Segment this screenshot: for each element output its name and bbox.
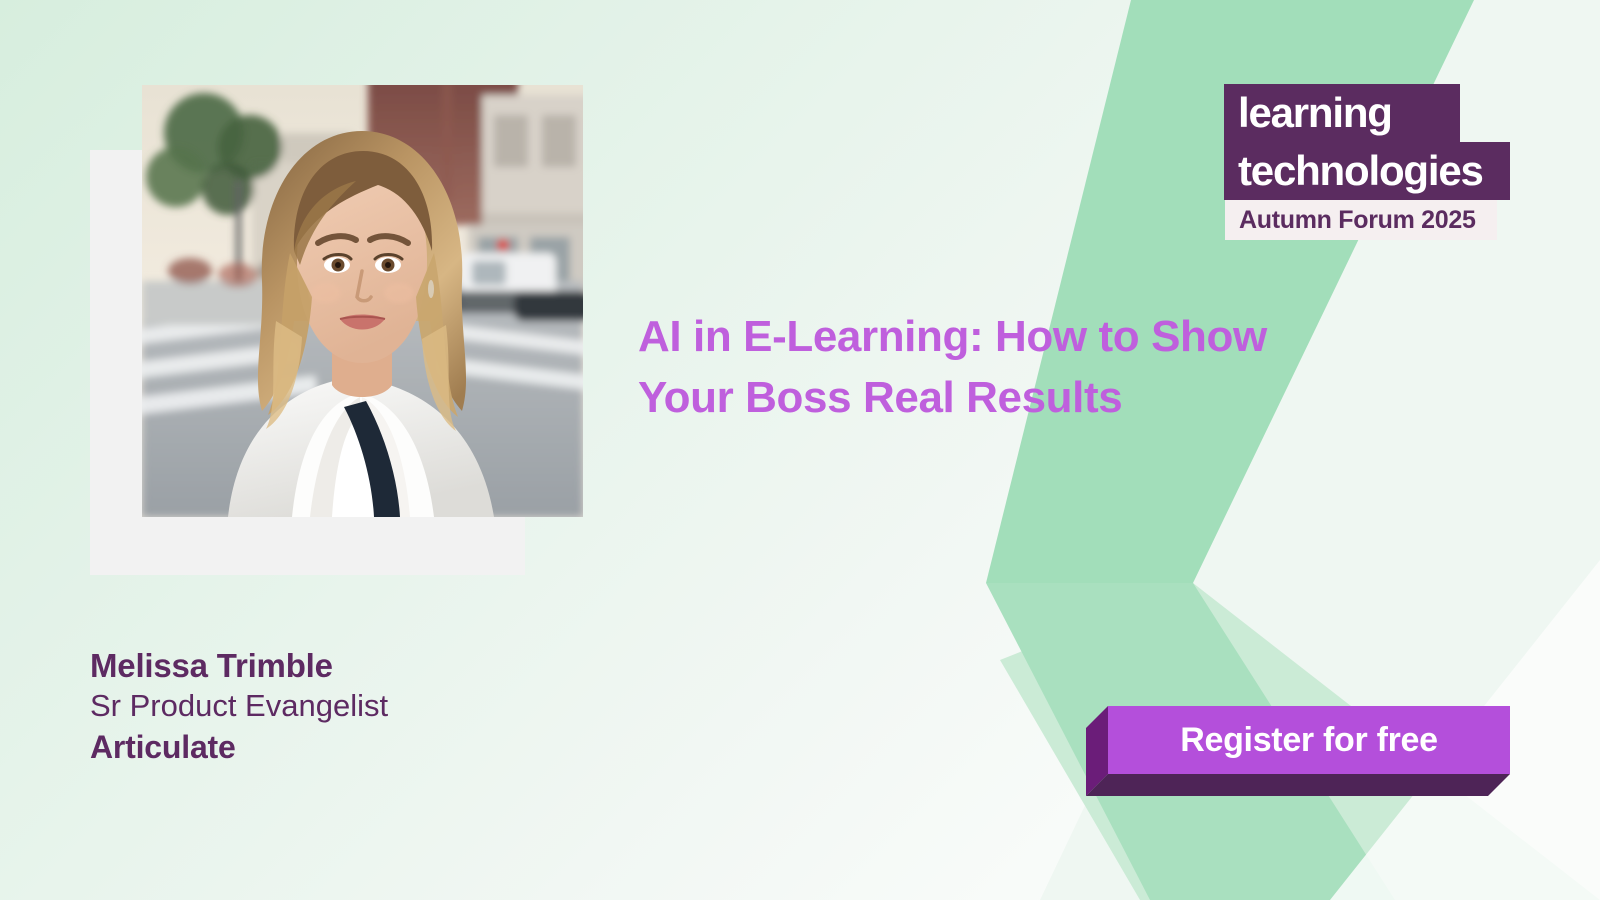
speaker-role: Sr Product Evangelist [90,686,710,727]
promo-banner: AI in E-Learning: How to Show Your Boss … [0,0,1600,900]
logo-strapline: Autumn Forum 2025 [1225,200,1497,240]
speaker-photo-frame [142,85,583,517]
speaker-photo-block [90,150,525,575]
session-title: AI in E-Learning: How to Show Your Boss … [638,307,1308,428]
event-logo: learning technologies Autumn Forum 2025 [1200,84,1520,244]
logo-line-technologies: technologies [1224,142,1510,200]
register-button[interactable]: Register for free [1086,706,1516,796]
logo-line-learning: learning [1224,84,1460,142]
button-face[interactable]: Register for free [1108,706,1510,774]
speaker-details: Melissa Trimble Sr Product Evangelist Ar… [90,645,710,769]
speaker-company: Articulate [90,727,710,769]
register-button-label: Register for free [1180,721,1438,760]
speaker-name: Melissa Trimble [90,645,710,686]
avatar [142,85,583,517]
